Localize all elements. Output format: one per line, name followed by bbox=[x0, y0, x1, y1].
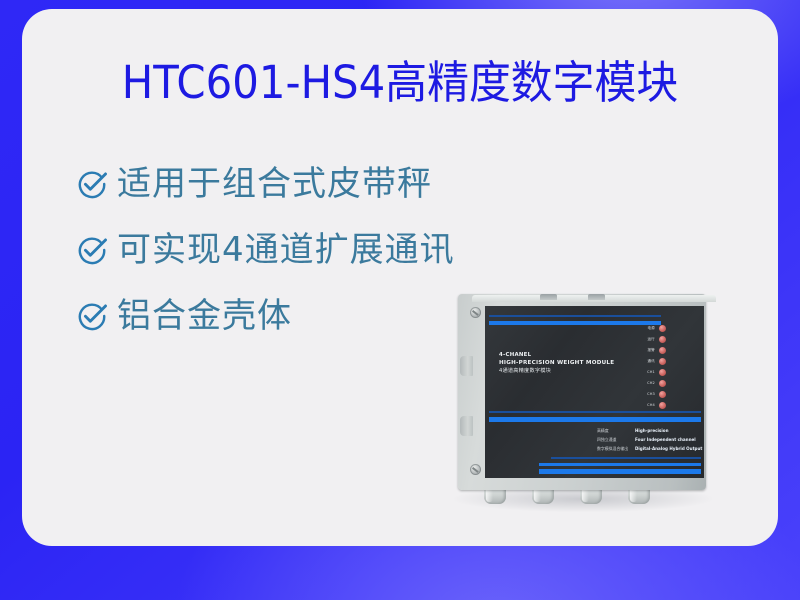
led-label: 运行 bbox=[635, 337, 655, 342]
page-title: HTC601-HS4高精度数字模块 bbox=[48, 55, 751, 111]
accent-stripe bbox=[489, 321, 661, 325]
housing-latch bbox=[588, 294, 605, 300]
led-label: CH3 bbox=[635, 392, 655, 397]
spec-label-cn: 高精度 bbox=[597, 428, 609, 434]
accent-stripe bbox=[489, 417, 701, 422]
accent-stripe bbox=[539, 463, 701, 466]
led-indicator bbox=[659, 358, 666, 365]
product-housing: 4-CHANEL HIGH-PRECISION WEIGHT MODULE 4通… bbox=[458, 294, 706, 490]
housing-latch bbox=[540, 294, 557, 300]
mounting-tab bbox=[460, 416, 473, 436]
spec-label-en: Four Independent channel bbox=[635, 437, 696, 443]
accent-stripe bbox=[539, 469, 701, 474]
check-circle-icon bbox=[77, 301, 107, 331]
led-indicator bbox=[659, 369, 666, 376]
product-poster: HTC601-HS4高精度数字模块 适用于组合式皮带秤 可实现4通道扩展通讯 bbox=[0, 0, 800, 600]
accent-stripe bbox=[489, 315, 661, 317]
accent-stripe bbox=[551, 457, 701, 459]
housing-screw bbox=[470, 307, 481, 318]
led-label: 报警 bbox=[635, 348, 655, 353]
accent-stripe bbox=[489, 411, 701, 413]
product-faceplate: 4-CHANEL HIGH-PRECISION WEIGHT MODULE 4通… bbox=[485, 306, 704, 478]
check-circle-icon bbox=[77, 169, 107, 199]
brand-line-2: HIGH-PRECISION WEIGHT MODULE bbox=[499, 360, 614, 367]
spec-label-cn: 四独立通道 bbox=[597, 437, 616, 443]
led-indicator bbox=[659, 402, 666, 409]
spec-label-en: High-precision bbox=[635, 428, 669, 434]
check-circle-icon bbox=[77, 235, 107, 265]
led-label: CH1 bbox=[635, 370, 655, 375]
led-label: 电源 bbox=[635, 326, 655, 331]
mounting-tab bbox=[460, 356, 473, 376]
led-label: 通讯 bbox=[635, 359, 655, 364]
list-item: 适用于组合式皮带秤 bbox=[77, 151, 547, 217]
led-indicator bbox=[659, 325, 666, 332]
spec-label-en: Digital-Analog Hybrid Output bbox=[635, 446, 702, 452]
led-indicator bbox=[659, 336, 666, 343]
list-item-label: 可实现4通道扩展通讯 bbox=[117, 231, 455, 269]
spec-label-cn: 数字模拟混合输出 bbox=[597, 446, 628, 452]
product-photo: 4-CHANEL HIGH-PRECISION WEIGHT MODULE 4通… bbox=[446, 290, 721, 518]
brand-line-1: 4-CHANEL bbox=[499, 352, 531, 359]
led-label: CH2 bbox=[635, 381, 655, 386]
led-indicator bbox=[659, 347, 666, 354]
led-label: CH4 bbox=[635, 403, 655, 408]
led-indicator bbox=[659, 391, 666, 398]
led-indicator bbox=[659, 380, 666, 387]
list-item-label: 适用于组合式皮带秤 bbox=[117, 165, 432, 203]
housing-screw bbox=[470, 464, 481, 475]
list-item-label: 铝合金壳体 bbox=[117, 297, 292, 335]
list-item: 可实现4通道扩展通讯 bbox=[77, 217, 547, 283]
content-card: HTC601-HS4高精度数字模块 适用于组合式皮带秤 可实现4通道扩展通讯 bbox=[22, 9, 778, 546]
brand-line-3: 4通道高精度数字模块 bbox=[499, 368, 551, 375]
